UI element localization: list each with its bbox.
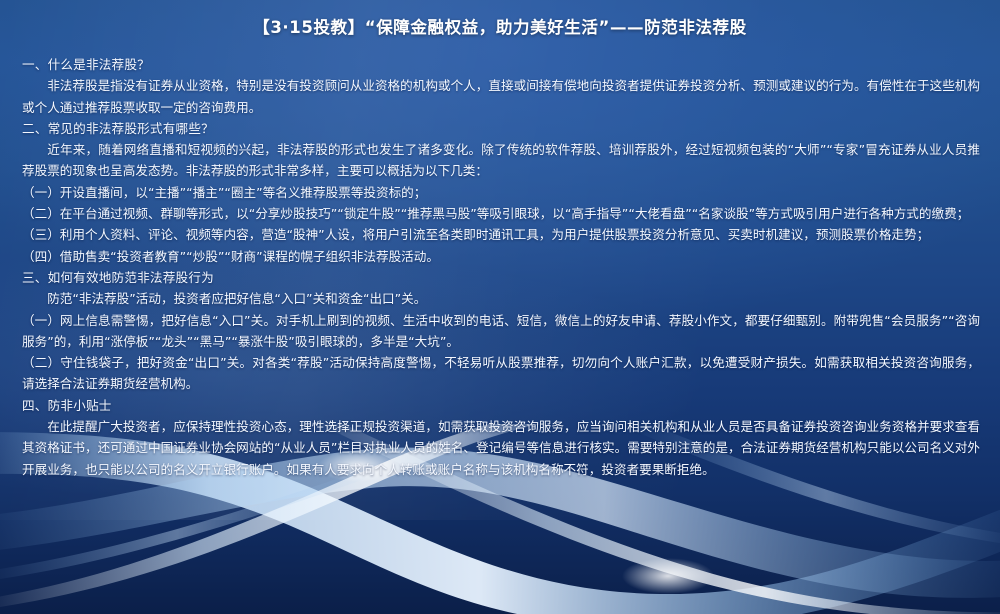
section-2-item-1: （一）开设直播间，以“主播”“播主”“圈主”等名义推荐股票等投资标的； [22, 182, 980, 203]
section-3-paragraph-1: 防范“非法荐股”活动，投资者应把好信息“入口”关和资金“出口”关。 [22, 288, 980, 309]
section-2-item-2: （二）在平台通过视频、群聊等形式，以“分享炒股技巧”“锁定牛股”“推荐黑马股”等… [22, 203, 980, 224]
section-2-item-4: （四）借助售卖“投资者教育”“炒股”“财商”课程的幌子组织非法荐股活动。 [22, 246, 980, 267]
section-heading-4: 四、防非小贴士 [22, 395, 980, 416]
section-3-item-2: （二）守住钱袋子，把好资金“出口”关。对各类“荐股”活动保持高度警惕，不轻易听从… [22, 352, 980, 395]
page-title: 【3·15投教】“保障金融权益，助力美好生活”——防范非法荐股 [0, 14, 1000, 38]
section-2-item-3: （三）利用个人资料、评论、视频等内容，营造“股神”人设，将用户引流至各类即时通讯… [22, 224, 980, 245]
poster-body: 一、什么是非法荐股？ 非法荐股是指没有证券从业资格，特别是没有投资顾问从业资格的… [22, 54, 980, 480]
wave-streak-three [0, 468, 374, 582]
section-heading-2: 二、常见的非法荐股形式有哪些？ [22, 118, 980, 139]
poster-canvas: 【3·15投教】“保障金融权益，助力美好生活”——防范非法荐股 一、什么是非法荐… [0, 0, 1000, 614]
section-heading-3: 三、如何有效地防范非法荐股行为 [22, 267, 980, 288]
section-1-paragraph-1: 非法荐股是指没有证券从业资格，特别是没有投资顾问从业资格的机构或个人，直接或间接… [22, 75, 980, 118]
section-2-paragraph-1: 近年来，随着网络直播和短视频的兴起，非法荐股的形式也发生了诸多变化。除了传统的软… [22, 139, 980, 182]
wave-glow-right [622, 558, 714, 594]
section-3-item-1: （一）网上信息需警惕，把好信息“入口”关。对手机上刷到的视频、生活中收到的电话、… [22, 310, 980, 353]
section-4-paragraph-1: 在此提醒广大投资者，应保持理性投资心态，理性选择正规投资渠道，如需获取投资咨询服… [22, 416, 980, 480]
section-heading-1: 一、什么是非法荐股？ [22, 54, 980, 75]
